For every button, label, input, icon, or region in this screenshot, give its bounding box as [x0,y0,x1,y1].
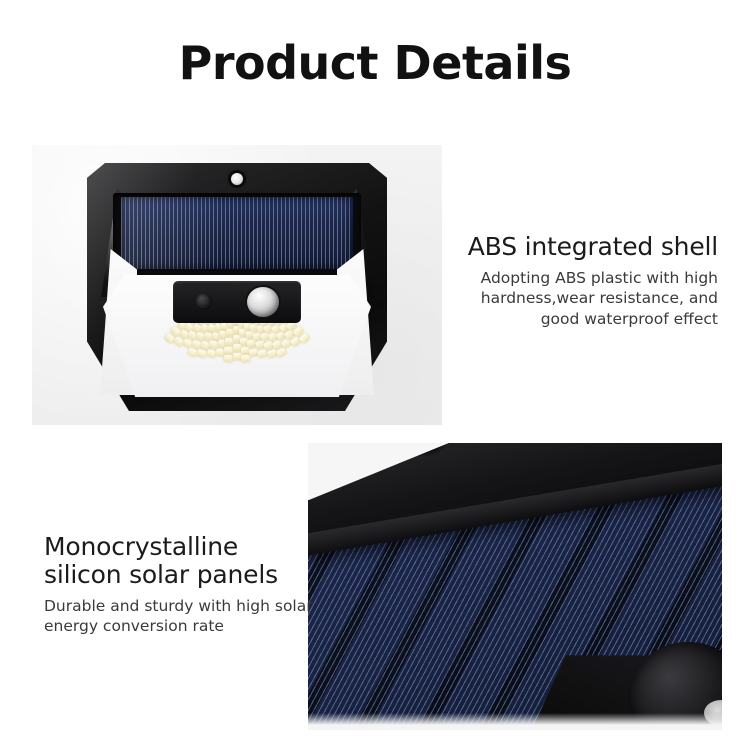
feature-heading: ABS integrated shell [440,233,718,261]
product-front-image [32,145,442,425]
feature-abs-shell: ABS integrated shell Adopting ABS plasti… [440,233,718,329]
feature-solar-panels: Monocrystalline silicon solar panels Dur… [44,533,314,637]
light-sensor-icon [195,293,212,310]
feature-heading-line: solar panels [129,560,278,589]
pir-motion-sensor-icon [247,287,279,317]
feature-body-line: good waterproof effect [440,309,718,329]
feature-body-line: hardness,wear resistance, and [440,288,718,308]
solar-panel-macro-image [308,443,722,730]
feature-body-line: energy conversion rate [44,616,314,636]
feature-body-line: Durable and sturdy with high solar [44,596,314,616]
feature-body: Durable and sturdy with high solar energ… [44,596,314,637]
sensor-bar [173,281,301,323]
feature-body: Adopting ABS plastic with high hardness,… [440,268,718,329]
product-details-page: Product Details [0,0,750,750]
feature-body-line: Adopting ABS plastic with high [440,268,718,288]
solar-panel-cell [121,197,353,269]
page-title: Product Details [0,36,750,90]
feature-heading: Monocrystalline silicon solar panels [44,533,314,589]
macro-bottom-fade [308,713,722,730]
mounting-screw-icon [231,173,243,185]
solar-wall-light [87,163,387,411]
